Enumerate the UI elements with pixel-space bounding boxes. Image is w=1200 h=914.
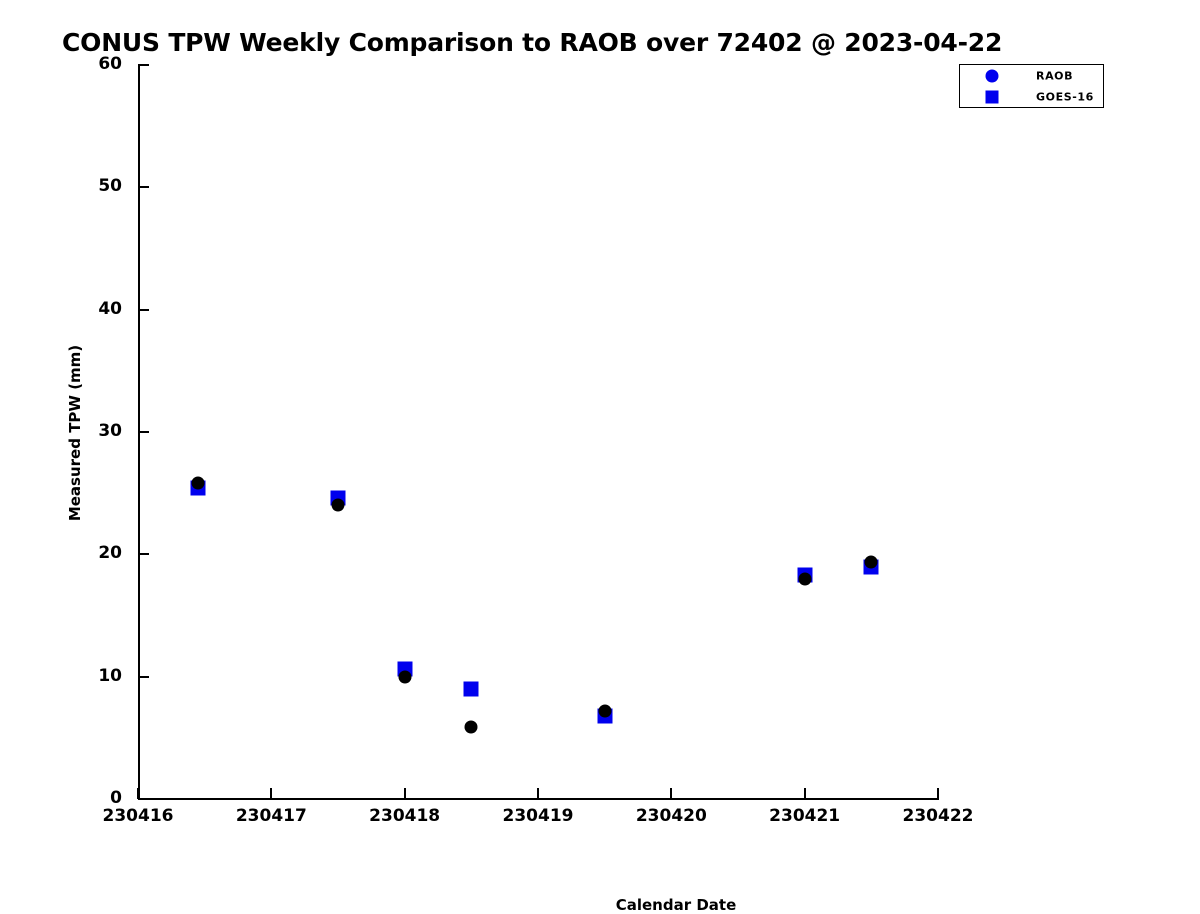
data-point-goes16 <box>464 681 479 696</box>
x-axis-tick-label: 230418 <box>369 806 440 826</box>
x-axis-tick-label: 230421 <box>769 806 840 826</box>
y-axis-tick-label: 20 <box>98 543 122 563</box>
data-point-raob <box>798 572 811 585</box>
x-axis-tick-label: 230420 <box>636 806 707 826</box>
data-point-raob <box>332 499 345 512</box>
y-axis-tick-label: 0 <box>110 788 122 808</box>
x-axis-tick-label: 230419 <box>503 806 574 826</box>
y-axis-tick-label: 60 <box>98 54 122 74</box>
legend-square-icon <box>986 91 999 104</box>
legend-label: RAOB <box>1036 70 1073 83</box>
legend-item: GOES-16 <box>960 86 1103 108</box>
y-axis-tick-label: 50 <box>98 176 122 196</box>
chart-figure: CONUS TPW Weekly Comparison to RAOB over… <box>0 0 1200 900</box>
data-point-raob <box>192 477 205 490</box>
data-point-raob <box>398 670 411 683</box>
legend-item: RAOB <box>960 65 1103 87</box>
plot-area: Measured TPW (mm) Calendar Date <box>138 65 938 799</box>
y-axis-tick-label: 30 <box>98 421 122 441</box>
legend-circle-icon <box>986 70 999 83</box>
data-point-raob <box>465 720 478 733</box>
y-axis-label: Measured TPW (mm) <box>66 345 84 521</box>
chart-title: CONUS TPW Weekly Comparison to RAOB over… <box>62 28 1002 57</box>
chart-legend: RAOBGOES-16 <box>959 64 1104 108</box>
data-point-raob <box>865 555 878 568</box>
y-axis-tick-label: 10 <box>98 666 122 686</box>
y-axis-tick-label: 40 <box>98 299 122 319</box>
x-axis-tick-label: 230417 <box>236 806 307 826</box>
legend-label: GOES-16 <box>1036 91 1094 104</box>
data-point-raob <box>598 704 611 717</box>
x-axis-tick-label: 230416 <box>103 806 174 826</box>
x-axis-tick-label: 230422 <box>903 806 974 826</box>
x-axis-label: Calendar Date <box>616 896 737 914</box>
